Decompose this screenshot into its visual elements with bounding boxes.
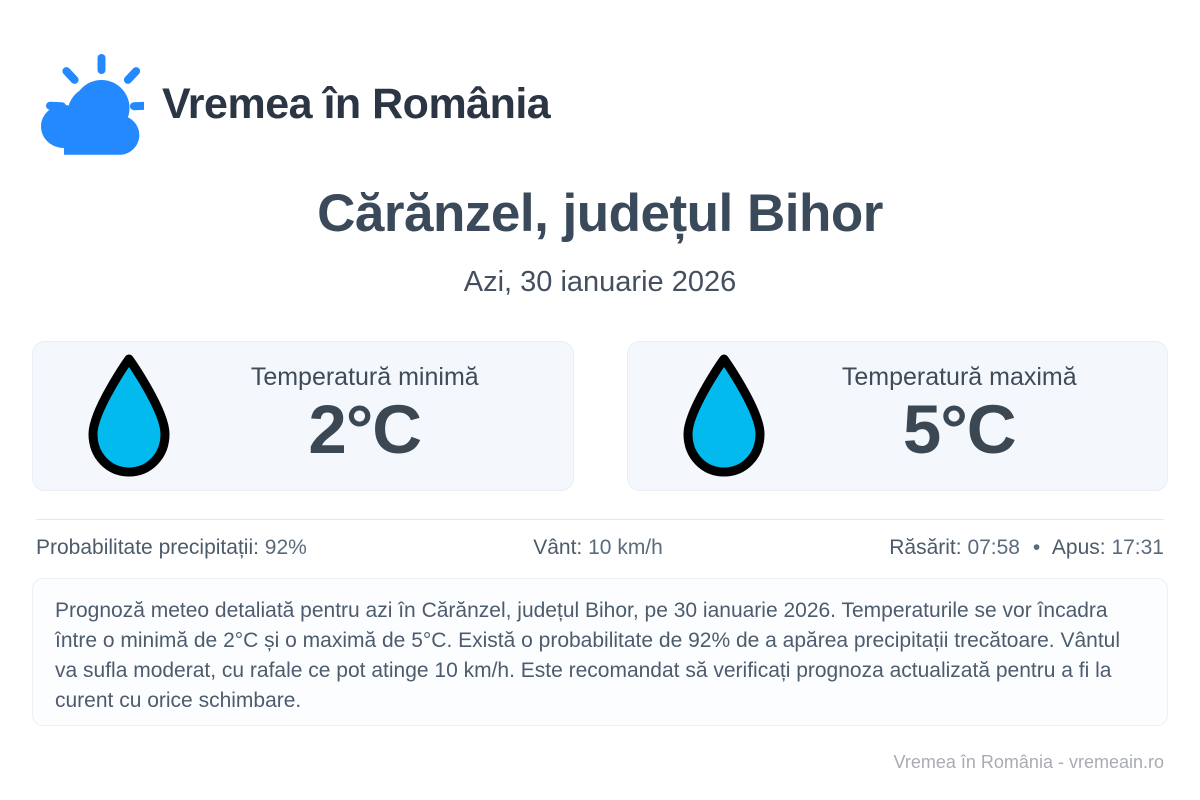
stat-sunset-value: 17:31: [1111, 536, 1164, 559]
weather-page: Vremea în România Cărănzel, județul Biho…: [0, 0, 1200, 800]
card-min-label: Temperatură minimă: [199, 364, 531, 392]
sun-behind-cloud-icon: [36, 52, 144, 156]
stat-sunrise-label: Răsărit:: [889, 536, 961, 559]
card-min-body: Temperatură minimă 2°C: [199, 364, 555, 468]
stat-sun: Răsărit: 07:58 • Apus: 17:31: [889, 536, 1164, 560]
page-title: Cărănzel, județul Bihor: [0, 183, 1200, 244]
card-max-temperature: Temperatură maximă 5°C: [627, 341, 1169, 491]
forecast-description: Prognoză meteo detaliată pentru azi în C…: [32, 578, 1168, 726]
page-date: Azi, 30 ianuarie 2026: [0, 266, 1200, 299]
footer-credit: Vremea în România - vremeain.ro: [894, 752, 1164, 773]
stats-divider: [36, 519, 1164, 520]
brand-name: Vremea în România: [162, 80, 550, 128]
card-min-temperature: Temperatură minimă 2°C: [32, 341, 574, 491]
stat-wind: Vânt: 10 km/h: [307, 536, 889, 560]
stat-precipitation: Probabilitate precipitații: 92%: [36, 536, 307, 560]
card-min-value: 2°C: [199, 393, 531, 468]
forecast-description-text: Prognoză meteo detaliată pentru azi în C…: [55, 596, 1145, 716]
stat-sun-separator: •: [1026, 536, 1047, 559]
temperature-cards: Temperatură minimă 2°C Temperatură maxim…: [32, 341, 1168, 491]
stat-sunset-label: Apus:: [1052, 536, 1106, 559]
card-max-label: Temperatură maximă: [794, 364, 1126, 392]
water-drop-icon: [680, 354, 768, 478]
stat-wind-value: 10 km/h: [588, 536, 663, 559]
card-max-body: Temperatură maximă 5°C: [794, 364, 1150, 468]
site-brand[interactable]: Vremea în România: [36, 52, 550, 156]
stat-wind-label: Vânt:: [533, 536, 582, 559]
stat-sunrise-value: 07:58: [967, 536, 1020, 559]
stat-precipitation-label: Probabilitate precipitații:: [36, 536, 259, 559]
stats-row: Probabilitate precipitații: 92% Vânt: 10…: [36, 536, 1164, 560]
water-drop-icon: [85, 354, 173, 478]
stat-precipitation-value: 92%: [265, 536, 307, 559]
card-max-value: 5°C: [794, 393, 1126, 468]
